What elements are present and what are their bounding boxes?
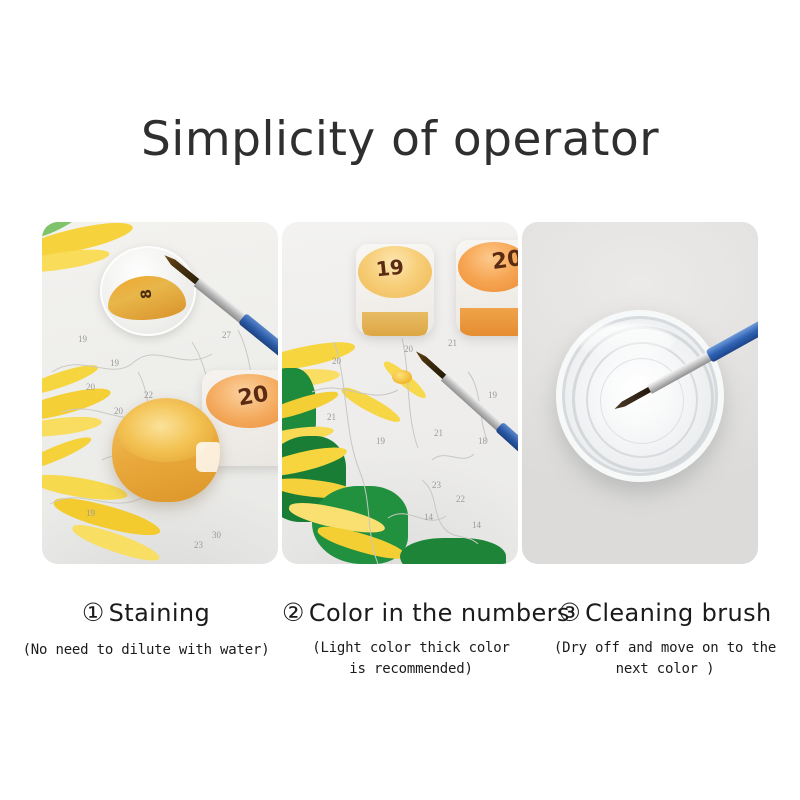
open-paint-pot <box>112 398 220 502</box>
step-3-caption: ③Cleaning brush (Dry off and move on to … <box>540 598 790 680</box>
paint-pot-number: 20 <box>236 382 271 412</box>
page-title: Simplicity of operator <box>0 112 800 167</box>
steps-caption-row: ①Staining (No need to dilute with water)… <box>0 598 800 680</box>
step-1-heading-label: Staining <box>109 599 211 627</box>
paint-dab <box>392 370 412 384</box>
circled-number-2-icon: ② <box>282 598 305 627</box>
canvas-number: 22 <box>144 390 153 400</box>
canvas-number: 22 <box>456 494 465 504</box>
step-2-heading-label: Color in the numbers <box>309 599 570 627</box>
canvas-number: 23 <box>194 540 203 550</box>
canvas-number: 19 <box>488 390 497 400</box>
step-2-subtitle-line-2: is recommended) <box>282 659 540 680</box>
canvas-number: 21 <box>327 412 336 422</box>
canvas-number: 20 <box>332 356 341 366</box>
canvas-number: 19 <box>110 358 119 368</box>
canvas-number: 20 <box>114 406 123 416</box>
canvas-number: 14 <box>424 512 433 522</box>
paint-pot-lid: 8 <box>100 246 196 336</box>
step-1-subtitle: (No need to dilute with water) <box>10 640 282 661</box>
paint-pot-number: 8 <box>138 288 155 299</box>
canvas-number: 18 <box>478 436 487 446</box>
canvas-number: 21 <box>448 338 457 348</box>
canvas-number: 30 <box>212 530 221 540</box>
step-3-image <box>522 222 758 564</box>
canvas-number: 19 <box>376 436 385 446</box>
step-3-subtitle-line-2: next color ) <box>540 659 790 680</box>
step-2-image: 20 21 19 21 19 18 23 22 14 14 20 21 19 2… <box>282 222 518 564</box>
step-1-heading: ①Staining <box>10 598 282 627</box>
step-3-subtitle: (Dry off and move on to the next color ) <box>540 638 790 680</box>
circled-number-3-icon: ③ <box>558 598 581 627</box>
canvas-number: 23 <box>432 480 441 490</box>
canvas-number: 14 <box>472 520 481 530</box>
steps-image-row: 19 19 20 20 22 19 21 19 20 27 8 30 23 8 … <box>42 222 758 564</box>
page-root: Simplicity of operator <box>0 0 800 800</box>
step-2-subtitle: (Light color thick color is recommended) <box>282 638 540 680</box>
canvas-number: 21 <box>434 428 443 438</box>
step-1-image: 19 19 20 20 22 19 21 19 20 27 8 30 23 8 … <box>42 222 278 564</box>
brush-handle <box>706 315 758 363</box>
canvas-number: 20 <box>86 382 95 392</box>
canvas-number: 19 <box>78 334 87 344</box>
canvas-number: 27 <box>222 330 231 340</box>
paint-pot-base <box>362 312 428 336</box>
circled-number-1-icon: ① <box>82 598 105 627</box>
paint-pot-number: 19 <box>375 255 405 282</box>
paint-pot-19: 19 <box>356 244 434 336</box>
step-2-heading: ②Color in the numbers <box>282 598 540 627</box>
step-3-heading: ③Cleaning brush <box>540 598 790 627</box>
step-3-subtitle-line-1: (Dry off and move on to the <box>540 638 790 659</box>
step-2-caption: ②Color in the numbers (Light color thick… <box>282 598 540 680</box>
step-3-heading-label: Cleaning brush <box>585 599 771 627</box>
paint-pot-number: 20 <box>490 246 518 275</box>
glass-highlight <box>578 324 674 358</box>
step-2-subtitle-line-1: (Light color thick color <box>282 638 540 659</box>
canvas-number: 19 <box>86 508 95 518</box>
paint-pot-base <box>460 308 518 336</box>
step-1-caption: ①Staining (No need to dilute with water) <box>10 598 282 680</box>
paint-pot-tab <box>196 442 220 472</box>
paint-pot-20: 20 <box>456 240 518 336</box>
